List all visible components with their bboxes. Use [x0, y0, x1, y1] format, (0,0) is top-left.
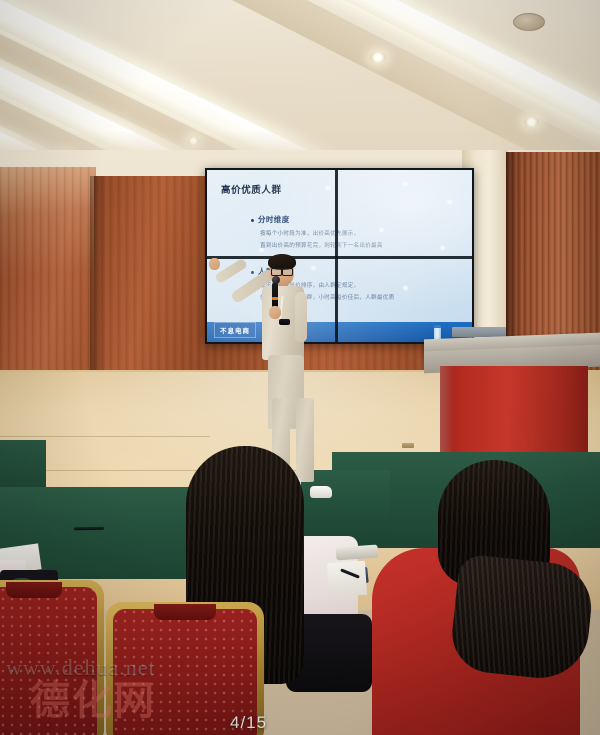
- speaker-right-arm: [295, 292, 307, 342]
- attendee-ponytail: [448, 553, 595, 683]
- green-carpet-left: [0, 440, 46, 488]
- screen-reflection-dot: [447, 200, 452, 204]
- speaker-wristwatch: [279, 319, 290, 325]
- microphone-accent-ring: [272, 297, 278, 300]
- slide-bullet-1-line-2: 直到出价高的预算花完，则轮到下一名出价最高: [260, 241, 383, 249]
- speaker-shoe-right: [310, 486, 332, 498]
- video-wall-display[interactable]: 高价优质人群 分时维度 按每个小时段为准，出价高优先展示， 直到出价高的预算花完…: [205, 168, 474, 344]
- slide-title: 高价优质人群: [221, 182, 282, 196]
- watermark-logo: 德化网: [30, 672, 120, 730]
- video-wall-bezel-horizontal: [207, 256, 472, 259]
- screen-reflection-dot: [311, 266, 316, 270]
- chair-back-notch: [154, 604, 216, 620]
- ceiling-downlight: [524, 117, 539, 127]
- speaker-glasses-right-lens: [282, 268, 293, 276]
- slide-bullet-1-line-1: 按每个小时段为准，出价高优先展示，: [260, 229, 383, 237]
- screen-reflection-dot: [259, 248, 264, 252]
- floor-vent-icon: [402, 443, 414, 448]
- slide-bullet-1-heading: 分时维度: [251, 214, 383, 225]
- ceiling-vent-icon: [513, 13, 545, 31]
- speaker-mic-hand: [269, 306, 281, 319]
- screen-reflection-dot: [325, 186, 330, 190]
- screen-reflection-dot: [403, 286, 408, 290]
- screen-reflection-dot: [403, 182, 408, 186]
- floor-seam: [0, 436, 210, 437]
- chair-back-notch: [6, 582, 62, 598]
- laptop[interactable]: [452, 327, 506, 337]
- photo-canvas: 高价优质人群 分时维度 按每个小时段为准，出价高优先展示， 直到出价高的预算花完…: [0, 0, 600, 735]
- slide-bullet-1: 分时维度 按每个小时段为准，出价高优先展示， 直到出价高的预算花完，则轮到下一名…: [251, 214, 383, 249]
- screen-reflection-dot: [379, 228, 384, 232]
- ceiling-downlight: [370, 52, 386, 63]
- speaker-glasses-left-lens: [271, 268, 282, 276]
- attendee-notepad[interactable]: [327, 561, 367, 598]
- speaker-pointing-hand: [209, 258, 220, 270]
- page-counter: 4/15: [230, 713, 267, 733]
- slide-footer-badge: 不息电商: [214, 322, 256, 338]
- screen-reflection-dot: [440, 246, 445, 250]
- speaker-trouser-leg-right: [296, 398, 314, 482]
- pen-on-table[interactable]: [74, 527, 104, 531]
- ceiling: [0, 0, 600, 175]
